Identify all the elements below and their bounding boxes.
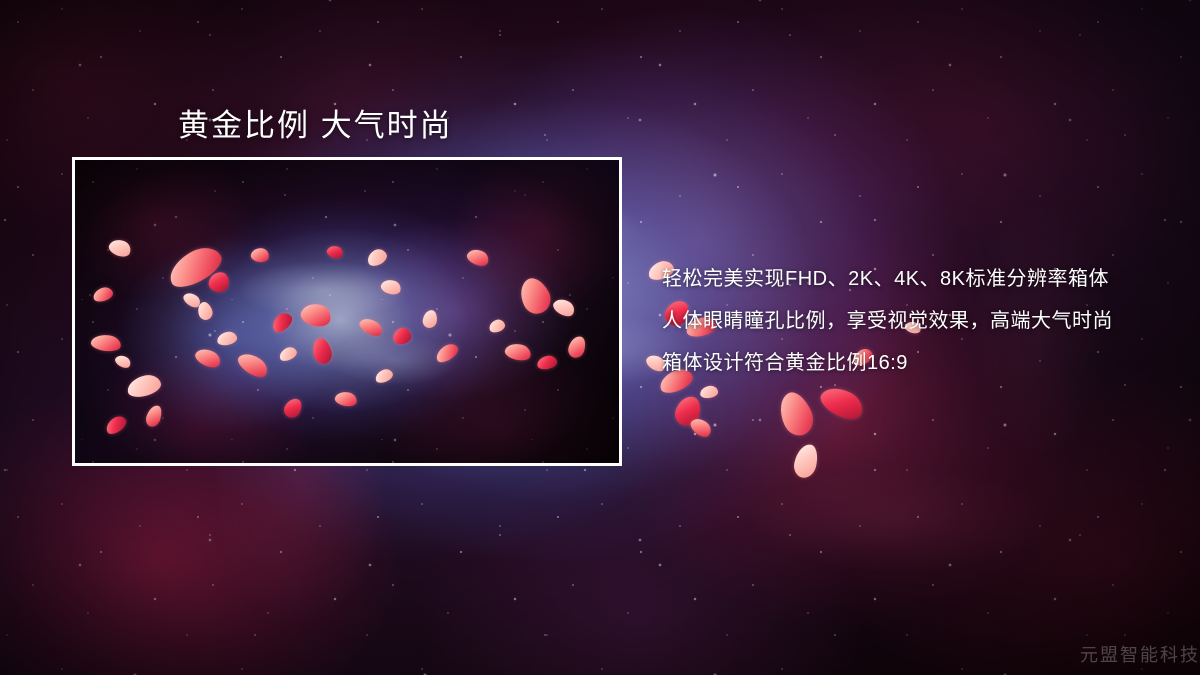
- page-title: 黄金比例 大气时尚: [178, 100, 453, 145]
- figure-frame: [72, 157, 622, 466]
- watermark-label: 元盟智能科技: [1080, 641, 1200, 667]
- petal: [773, 388, 818, 440]
- body-line-3: 箱体设计符合黄金比例16:9: [662, 342, 1162, 384]
- petal: [816, 381, 867, 425]
- body-line-1: 轻松完美实现FHD、2K、4K、8K标准分辨率箱体: [662, 258, 1162, 300]
- body-line-2: 人体眼睛瞳孔比例，享受视觉效果，高端大气时尚: [662, 300, 1162, 342]
- slide-canvas: 黄金比例 大气时尚 轻松完美实现FHD、2K、4K、8K标准分辨率箱体 人体眼睛…: [0, 0, 1200, 675]
- body-copy: 轻松完美实现FHD、2K、4K、8K标准分辨率箱体 人体眼睛瞳孔比例，享受视觉效…: [662, 258, 1162, 384]
- petal: [792, 442, 821, 480]
- petal: [699, 385, 718, 399]
